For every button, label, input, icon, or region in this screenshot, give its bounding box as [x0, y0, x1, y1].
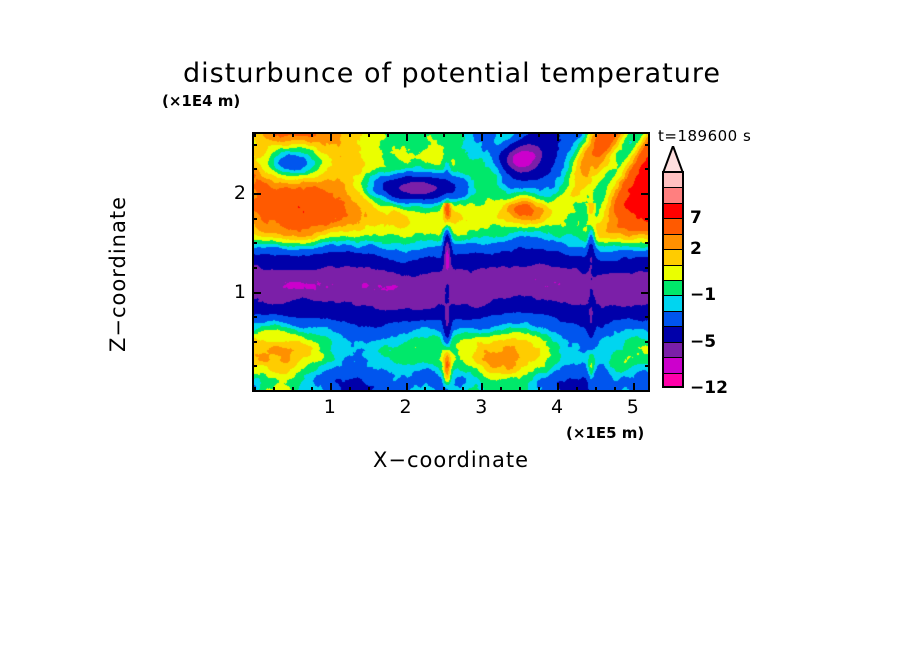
x-tick — [349, 387, 351, 392]
colorbar-band — [662, 234, 684, 249]
y-tick — [252, 242, 257, 244]
colorbar-tick-label: 7 — [690, 208, 702, 228]
y-tick — [645, 390, 650, 392]
y-tick — [645, 242, 650, 244]
colorbar-band — [662, 326, 684, 341]
colorbar-tick-label: −5 — [690, 332, 716, 352]
x-tick — [406, 132, 408, 141]
x-tick-label: 1 — [324, 396, 336, 418]
y-tick — [252, 144, 257, 146]
x-tick — [614, 387, 616, 392]
x-tick — [519, 132, 521, 137]
y-tick — [645, 316, 650, 318]
x-unit-label: (×1E5 m) — [566, 424, 644, 442]
x-tick — [330, 383, 332, 392]
axis-ticks — [252, 132, 650, 392]
y-tick — [641, 193, 650, 195]
x-tick-label: 4 — [551, 396, 563, 418]
y-tick — [252, 292, 261, 294]
x-tick-label: 3 — [475, 396, 487, 418]
colorbar-band — [662, 357, 684, 372]
colorbar-max-arrow — [662, 146, 684, 173]
x-tick — [443, 387, 445, 392]
x-tick — [273, 387, 275, 392]
y-tick-label: 2 — [228, 182, 246, 204]
colorbar-band — [662, 249, 684, 264]
colorbar-band — [662, 187, 684, 202]
x-tick — [557, 132, 559, 141]
y-tick — [252, 316, 257, 318]
colorbar — [662, 172, 684, 388]
x-tick — [292, 132, 294, 137]
x-tick — [424, 132, 426, 137]
x-tick — [500, 387, 502, 392]
x-tick — [481, 132, 483, 141]
x-tick — [424, 387, 426, 392]
y-tick — [645, 267, 650, 269]
x-tick — [576, 132, 578, 137]
y-tick — [645, 168, 650, 170]
colorbar-tick-label: −1 — [690, 285, 716, 305]
x-tick — [292, 387, 294, 392]
y-tick — [252, 168, 257, 170]
x-tick — [349, 132, 351, 137]
x-tick — [254, 132, 256, 137]
y-tick — [252, 218, 257, 220]
z-unit-label: (×1E4 m) — [162, 92, 240, 110]
y-tick — [645, 341, 650, 343]
x-tick — [311, 132, 313, 137]
y-tick — [252, 341, 257, 343]
x-tick — [330, 132, 332, 141]
x-tick — [462, 132, 464, 137]
x-tick — [633, 383, 635, 392]
colorbar-band — [662, 265, 684, 280]
colorbar-band — [662, 172, 684, 187]
colorbar-tick-label: 2 — [690, 239, 702, 259]
x-tick — [368, 132, 370, 137]
x-axis-title: X−coordinate — [252, 448, 650, 472]
colorbar-band — [662, 342, 684, 357]
x-tick — [538, 132, 540, 137]
x-tick — [443, 132, 445, 137]
colorbar-band — [662, 311, 684, 326]
y-tick — [645, 218, 650, 220]
x-tick — [462, 387, 464, 392]
x-tick — [311, 387, 313, 392]
x-tick-label: 2 — [399, 396, 411, 418]
x-tick — [595, 387, 597, 392]
y-tick — [645, 144, 650, 146]
x-tick — [273, 132, 275, 137]
x-tick — [406, 383, 408, 392]
x-tick-label: 5 — [627, 396, 639, 418]
y-tick — [252, 193, 261, 195]
x-tick — [538, 387, 540, 392]
page-title: disturbunce of potential temperature — [0, 58, 904, 89]
colorbar-bottom-edge — [662, 386, 684, 388]
x-tick — [500, 132, 502, 137]
colorbar-tick-label: −12 — [690, 378, 728, 398]
colorbar-band — [662, 203, 684, 218]
y-tick — [252, 365, 257, 367]
time-annotation: t=189600 s — [658, 127, 751, 145]
y-tick — [645, 365, 650, 367]
x-tick — [576, 387, 578, 392]
x-tick — [614, 132, 616, 137]
x-tick — [481, 383, 483, 392]
x-tick — [387, 132, 389, 137]
y-tick — [252, 390, 257, 392]
colorbar-band — [662, 218, 684, 233]
y-axis-title: Z−coordinate — [106, 144, 130, 404]
x-tick — [519, 387, 521, 392]
x-tick — [557, 383, 559, 392]
x-tick — [387, 387, 389, 392]
x-tick — [633, 132, 635, 141]
y-tick — [252, 267, 257, 269]
y-tick-label: 1 — [228, 281, 246, 303]
figure-canvas: disturbunce of potential temperature (×1… — [0, 0, 904, 654]
colorbar-separator — [662, 171, 684, 173]
colorbar-band — [662, 280, 684, 295]
y-tick — [641, 292, 650, 294]
x-tick — [368, 387, 370, 392]
colorbar-band — [662, 295, 684, 310]
x-tick — [595, 132, 597, 137]
